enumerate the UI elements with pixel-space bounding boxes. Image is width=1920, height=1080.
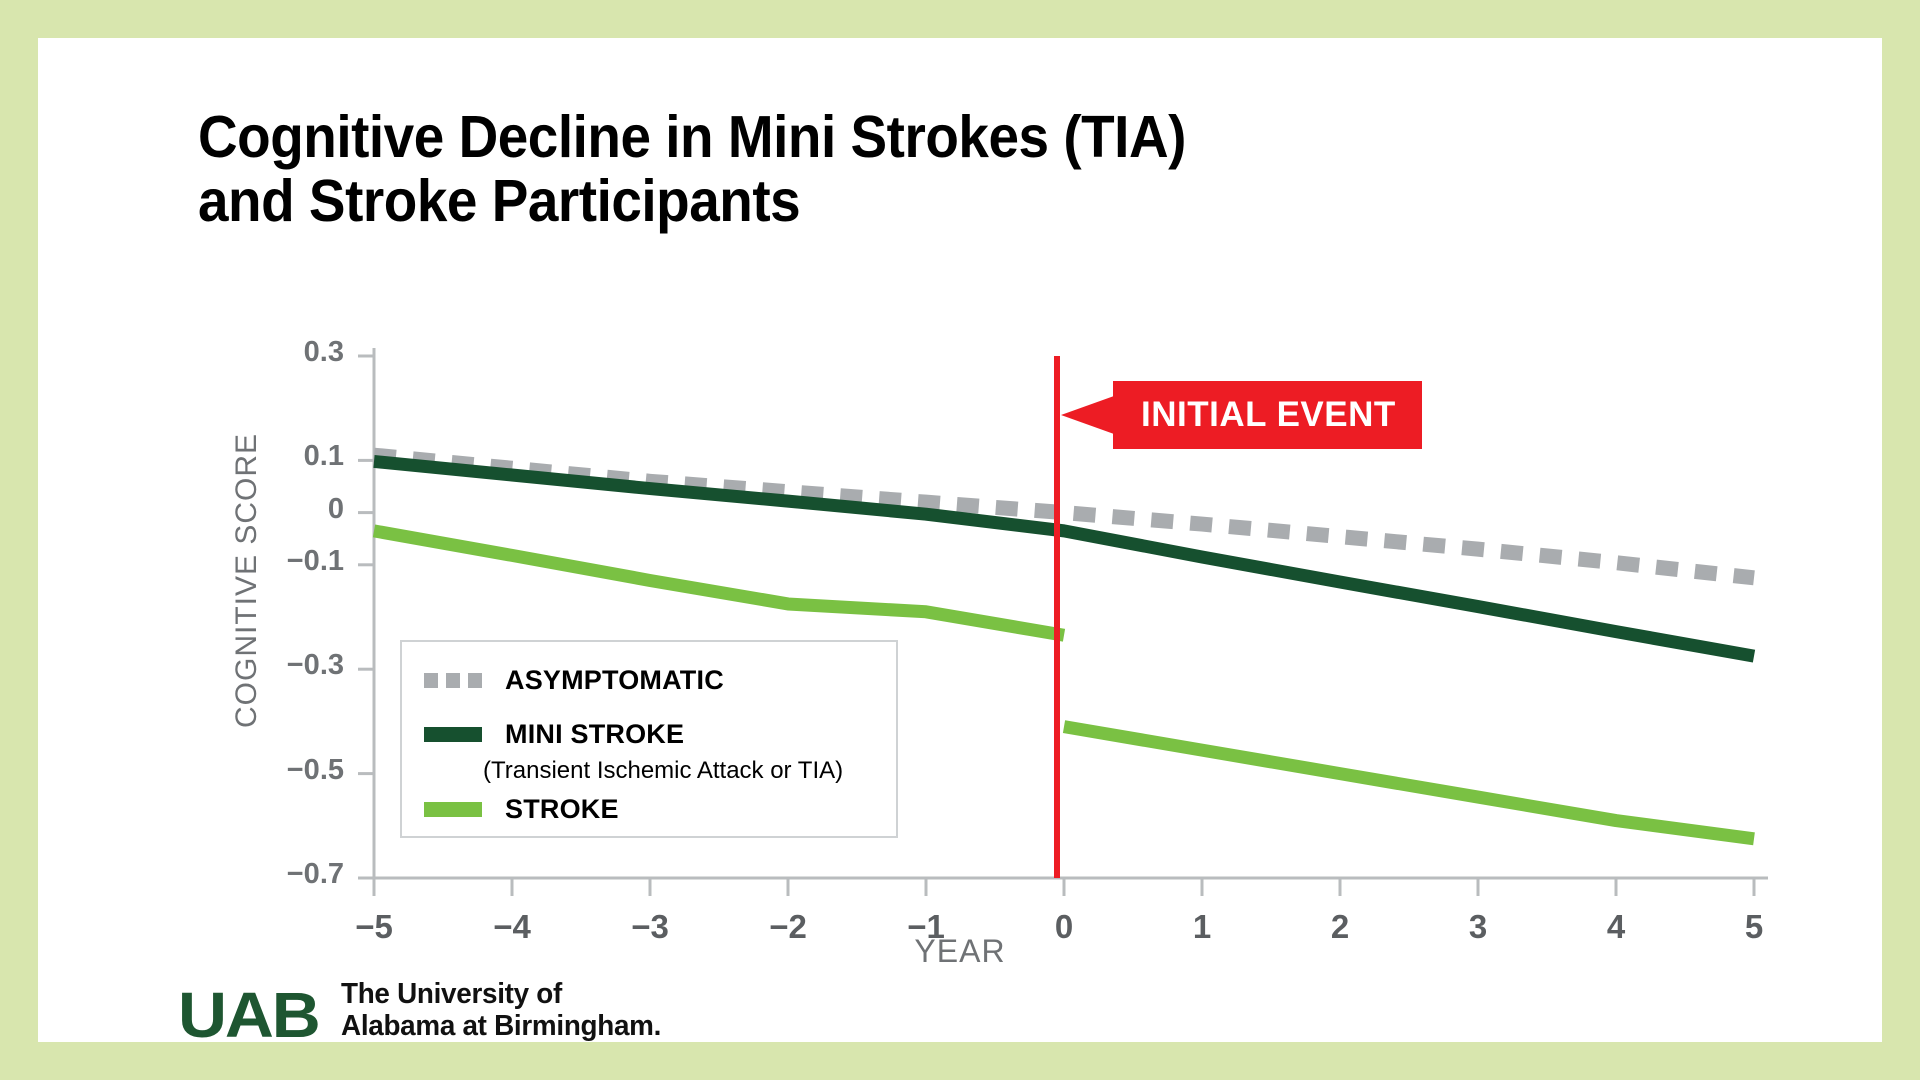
series-line-asymptomatic: [374, 455, 1754, 578]
chart-legend: ASYMPTOMATIC MINI STROKE (Transient Isch…: [400, 640, 898, 838]
y-axis-ticks: [358, 356, 374, 878]
x-axis-title: YEAR: [38, 933, 1882, 970]
y-tick-label: −0.5: [234, 754, 344, 787]
y-tick-label: −0.7: [234, 858, 344, 891]
uab-logo-mark: UAB: [178, 988, 319, 1043]
legend-label-mini-stroke: MINI STROKE: [505, 719, 684, 750]
initial-event-badge: INITIAL EVENT: [1113, 381, 1422, 449]
initial-event-label: INITIAL EVENT: [1141, 395, 1396, 435]
legend-sublabel-mini-stroke: (Transient Ischemic Attack or TIA): [483, 757, 843, 785]
legend-label-stroke: STROKE: [505, 794, 619, 825]
legend-item-mini-stroke[interactable]: MINI STROKE: [424, 719, 684, 750]
x-axis-ticks: [374, 878, 1754, 896]
legend-item-asymptomatic[interactable]: ASYMPTOMATIC: [424, 665, 724, 696]
initial-event-arrow-icon: [1061, 396, 1114, 434]
uab-logo-text: The University of Alabama at Birmingham.: [341, 978, 661, 1043]
chart-plot-area: 0.30.10−0.1−0.3−0.5−0.7 −5−4−3−2−1012345…: [38, 38, 1882, 1042]
chart-card: Cognitive Decline in Mini Strokes (TIA) …: [38, 38, 1882, 1042]
uab-logo-line-2: Alabama at Birmingham.: [341, 1010, 661, 1042]
uab-logo: UAB The University of Alabama at Birming…: [178, 978, 674, 1043]
chart-svg: [38, 38, 1882, 1042]
legend-swatch-dashed-icon: [424, 673, 482, 688]
legend-item-stroke[interactable]: STROKE: [424, 794, 619, 825]
legend-swatch-solid-icon: [424, 802, 482, 817]
series-line-stroke-pre: [374, 531, 1064, 635]
legend-label-asymptomatic: ASYMPTOMATIC: [505, 665, 724, 696]
uab-logo-line-1: The University of: [341, 978, 661, 1010]
y-axis-title: COGNITIVE SCORE: [230, 433, 264, 728]
series-line-stroke-post: [1064, 727, 1754, 839]
legend-swatch-solid-icon: [424, 727, 482, 742]
y-tick-label: 0.3: [234, 336, 344, 369]
